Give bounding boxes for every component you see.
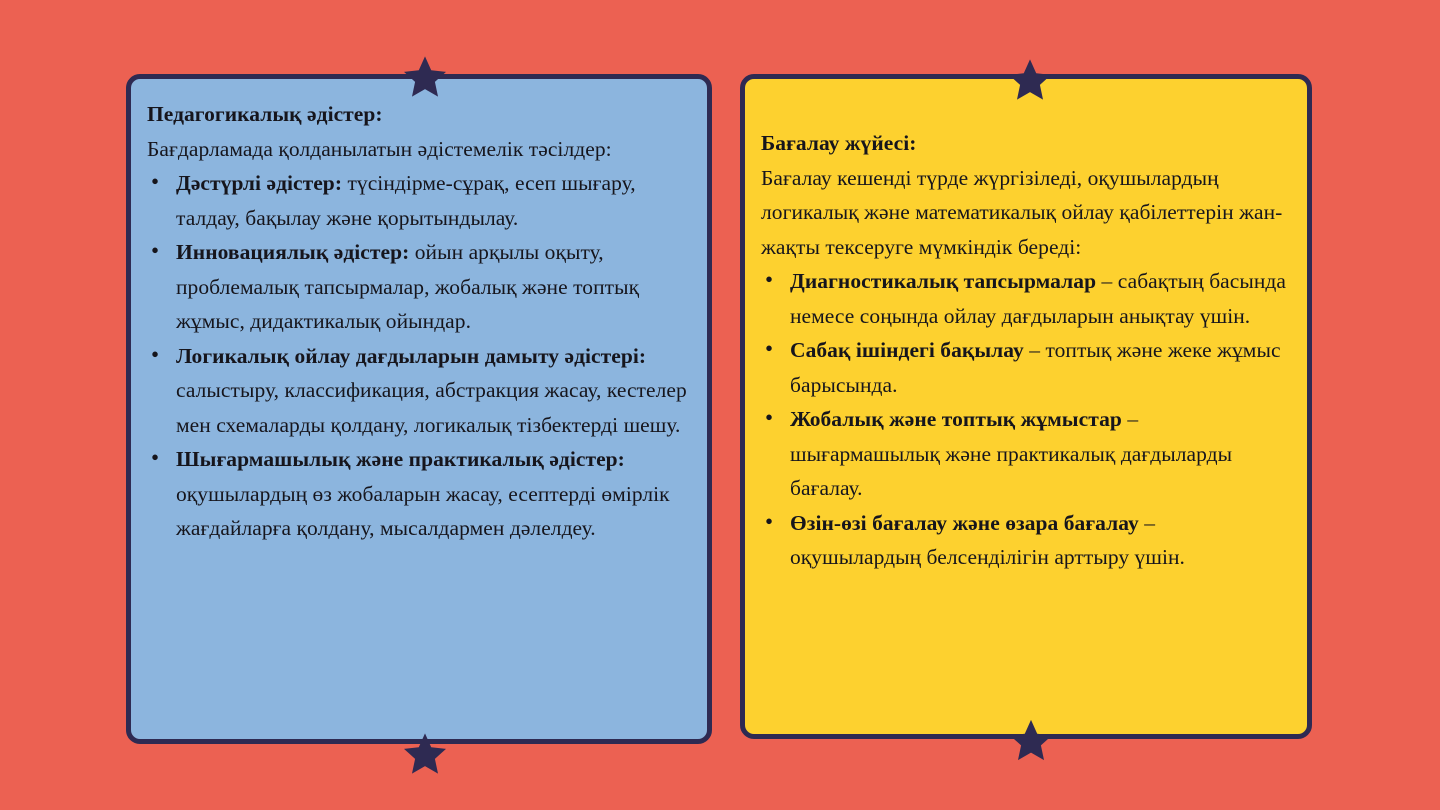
bullet-term: Өзін-өзі бағалау және өзара бағалау	[790, 511, 1139, 535]
right-panel-heading: Бағалау жүйесі:	[761, 126, 1291, 161]
pedagogical-methods-panel: Педагогикалық әдістер: Бағдарламада қолд…	[126, 74, 712, 744]
bullet-term: Жобалық және топтық жұмыстар	[790, 407, 1122, 431]
left-panel-heading: Педагогикалық әдістер:	[147, 97, 691, 132]
bullet-term: Инновациялық әдістер:	[176, 240, 409, 264]
bullet-detail: салыстыру, классификация, абстракция жас…	[176, 378, 687, 437]
list-item: Дәстүрлі әдістер: түсіндірме-сұрақ, есеп…	[147, 166, 691, 235]
list-item: Шығармашылық және практикалық әдістер: о…	[147, 442, 691, 546]
star-icon	[404, 54, 446, 99]
star-icon	[1009, 57, 1051, 102]
assessment-system-panel: Бағалау жүйесі: Бағалау кешенді түрде жү…	[740, 74, 1312, 739]
star-icon	[1010, 716, 1052, 764]
list-item: Өзін-өзі бағалау және өзара бағалау – оқ…	[761, 506, 1291, 575]
slide-canvas: Педагогикалық әдістер: Бағдарламада қолд…	[0, 0, 1440, 810]
bullet-term: Сабақ ішіндегі бақылау	[790, 338, 1024, 362]
left-panel-lead: Бағдарламада қолданылатын әдістемелік тә…	[147, 132, 691, 167]
bullet-term: Шығармашылық және практикалық әдістер:	[176, 447, 625, 471]
list-item: Жобалық және топтық жұмыстар – шығармашы…	[761, 402, 1291, 506]
list-item: Инновациялық әдістер: ойын арқылы оқыту,…	[147, 235, 691, 339]
star-icon	[404, 731, 446, 776]
bullet-detail: оқушылардың өз жобаларын жасау, есептерд…	[176, 482, 670, 541]
bullet-term: Диагностикалық тапсырмалар	[790, 269, 1096, 293]
list-item: Логикалық ойлау дағдыларын дамыту әдісте…	[147, 339, 691, 443]
left-panel-body: Педагогикалық әдістер: Бағдарламада қолд…	[131, 79, 707, 556]
right-panel-body: Бағалау жүйесі: Бағалау кешенді түрде жү…	[745, 79, 1307, 585]
bullet-term: Дәстүрлі әдістер:	[176, 171, 342, 195]
right-panel-bullet-list: Диагностикалық тапсырмалар – сабақтың ба…	[761, 264, 1291, 575]
list-item: Диагностикалық тапсырмалар – сабақтың ба…	[761, 264, 1291, 333]
bullet-term: Логикалық ойлау дағдыларын дамыту әдісте…	[176, 344, 646, 368]
right-panel-lead: Бағалау кешенді түрде жүргізіледі, оқушы…	[761, 161, 1291, 265]
list-item: Сабақ ішіндегі бақылау – топтық және жек…	[761, 333, 1291, 402]
left-panel-bullet-list: Дәстүрлі әдістер: түсіндірме-сұрақ, есеп…	[147, 166, 691, 546]
